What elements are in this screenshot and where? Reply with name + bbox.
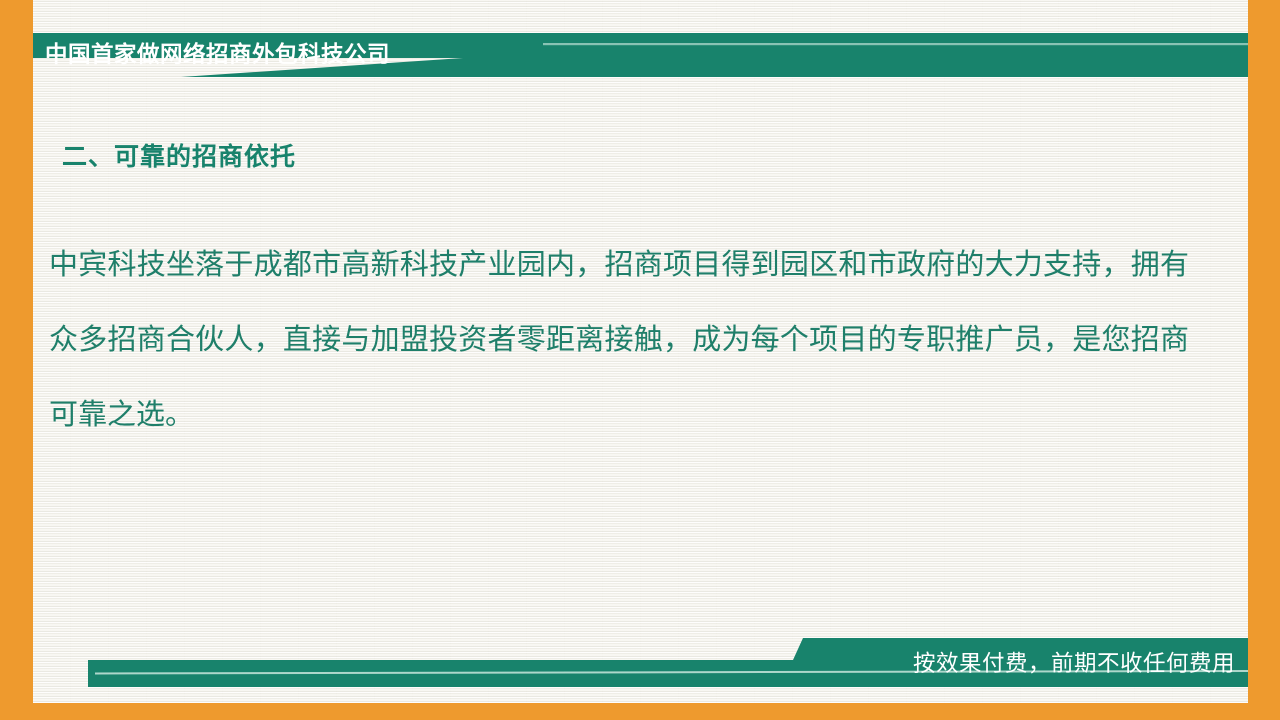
page-title: 二、可靠的招商依托	[62, 137, 296, 173]
body-paragraph: 中宾科技坐落于成都市高新科技产业园内，招商项目得到园区和市政府的大力支持，拥有众…	[49, 228, 1189, 453]
slide-canvas: 中国首家做网络招商外包科技公司 二、可靠的招商依托 中宾科技坐落于成都市高新科技…	[0, 0, 1280, 720]
header-hairline-rule	[543, 43, 1248, 45]
header-title: 中国首家做网络招商外包科技公司	[45, 38, 390, 72]
footer-tagline: 按效果付费，前期不收任何费用	[913, 648, 1235, 680]
